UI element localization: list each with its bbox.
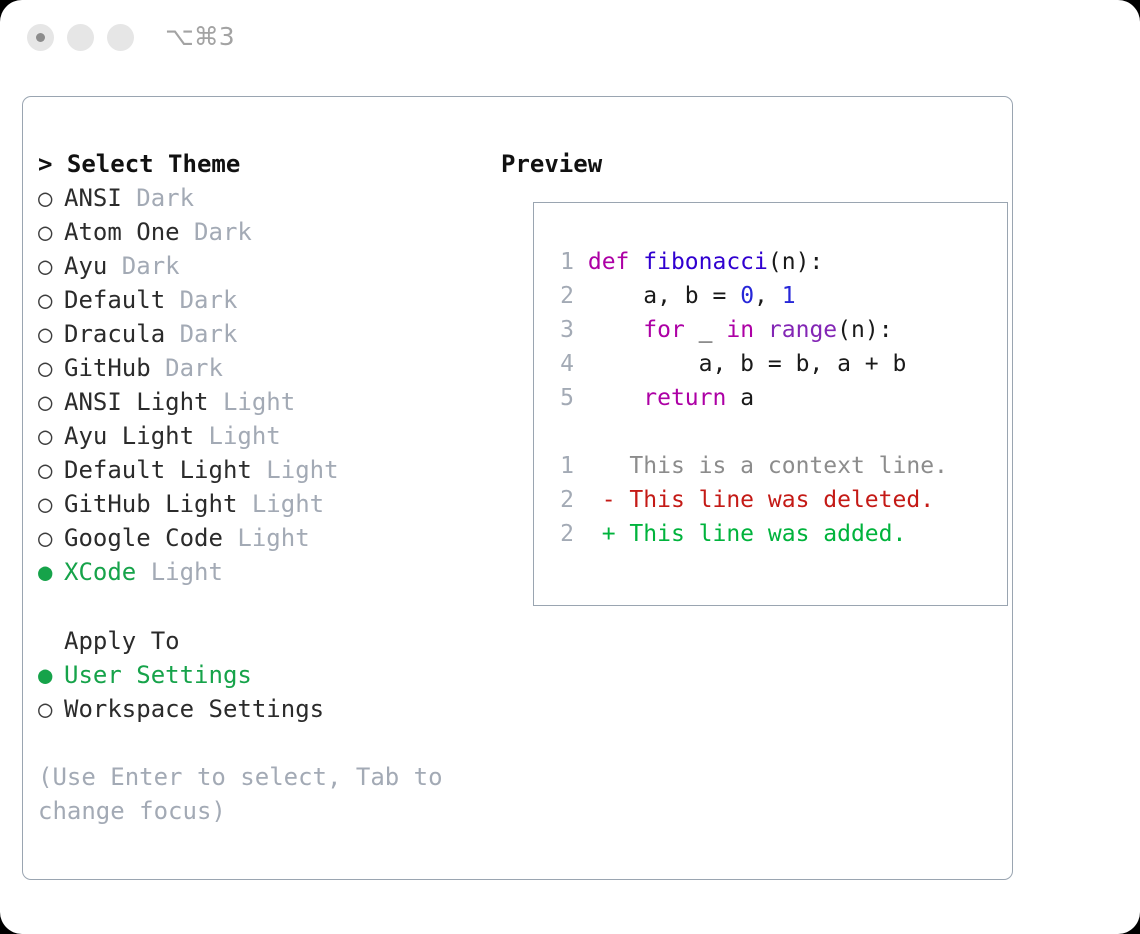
theme-category-badge: Light (136, 558, 223, 586)
code-token: def (588, 249, 643, 275)
theme-category-badge: Dark (107, 252, 179, 280)
diff-sign (602, 453, 630, 479)
diff-line: 2 + This line was added. (548, 517, 948, 551)
code-diff-separator (548, 415, 948, 449)
theme-name: GitHub (64, 354, 151, 382)
apply-to-label: User Settings (64, 661, 252, 689)
theme-name: GitHub Light (64, 490, 237, 518)
radio-unselected-icon: ○ (38, 249, 64, 283)
code-token: a, b = (588, 283, 740, 309)
window-controls (27, 24, 134, 51)
radio-unselected-icon: ○ (38, 419, 64, 453)
code-token: range (768, 317, 837, 343)
code-token: (n): (768, 249, 823, 275)
diff-text: This line was deleted. (629, 487, 934, 513)
theme-list-item[interactable]: ○GitHub Dark (38, 351, 483, 385)
theme-category-badge: Dark (151, 354, 223, 382)
code-token: _ (685, 317, 727, 343)
theme-name: Ayu (64, 252, 107, 280)
theme-list-item[interactable]: ○ANSI Light Light (38, 385, 483, 419)
theme-list-item[interactable]: ○ANSI Dark (38, 181, 483, 215)
radio-unselected-icon: ○ (38, 351, 64, 385)
code-preview: 1 def fibonacci(n):2 a, b = 0, 13 for _ … (548, 245, 948, 551)
theme-name: Default Light (64, 456, 252, 484)
theme-list-item[interactable]: ○Default Dark (38, 283, 483, 317)
theme-category-badge: Dark (122, 184, 194, 212)
theme-category-badge: Dark (180, 218, 252, 246)
code-token: fibonacci (643, 249, 768, 275)
preview-box: 1 def fibonacci(n):2 a, b = 0, 13 for _ … (533, 202, 1008, 606)
window-dot-maximize-icon[interactable] (107, 24, 134, 51)
theme-category-badge: Light (209, 388, 296, 416)
code-line: 3 for _ in range(n): (548, 313, 948, 347)
theme-name: Ayu Light (64, 422, 194, 450)
radio-unselected-icon: ○ (38, 487, 64, 521)
theme-list[interactable]: ○ANSI Dark○Atom One Dark○Ayu Dark○Defaul… (38, 181, 483, 589)
theme-category-badge: Light (194, 422, 281, 450)
theme-list-item[interactable]: ○Ayu Light Light (38, 419, 483, 453)
diff-text: This is a context line. (629, 453, 948, 479)
line-number: 2 (548, 517, 574, 551)
code-token (754, 317, 768, 343)
panel-columns: > Select Theme ○ANSI Dark○Atom One Dark○… (23, 97, 1012, 879)
line-number: 4 (548, 347, 574, 381)
diff-sign: + (602, 521, 630, 547)
apply-to-list[interactable]: ●User Settings○Workspace Settings (38, 658, 483, 726)
line-number: 2 (548, 279, 574, 313)
code-line: 5 return a (548, 381, 948, 415)
diff-line: 2 - This line was deleted. (548, 483, 948, 517)
radio-unselected-icon: ○ (38, 215, 64, 249)
code-token: return (643, 385, 726, 411)
theme-category-badge: Light (237, 490, 324, 518)
theme-list-item[interactable]: ○Ayu Dark (38, 249, 483, 283)
theme-name: XCode (64, 558, 136, 586)
line-number: 5 (548, 381, 574, 415)
radio-unselected-icon: ○ (38, 385, 64, 419)
diff-text: This line was added. (629, 521, 906, 547)
preview-heading: Preview (501, 147, 1001, 181)
theme-category-badge: Dark (165, 320, 237, 348)
theme-name: Dracula (64, 320, 165, 348)
code-token: a (726, 385, 754, 411)
window-dot-close-icon[interactable] (27, 24, 54, 51)
theme-name: ANSI Light (64, 388, 209, 416)
theme-category-badge: Light (252, 456, 339, 484)
line-number: 3 (548, 313, 574, 347)
code-token (588, 317, 643, 343)
title-bar: ⌥⌘3 (0, 0, 1140, 80)
preview-column: Preview 1 def fibonacci(n):2 a, b = 0, 1… (501, 147, 1001, 181)
code-line: 4 a, b = b, a + b (548, 347, 948, 381)
theme-list-item[interactable]: ○Atom One Dark (38, 215, 483, 249)
keyboard-hint-text: (Use Enter to select, Tab to change focu… (38, 760, 448, 828)
code-line: 1 def fibonacci(n): (548, 245, 948, 279)
code-token: for (643, 317, 685, 343)
radio-unselected-icon: ○ (38, 453, 64, 487)
diff-line: 1 This is a context line. (548, 449, 948, 483)
apply-to-heading: Apply To (38, 624, 483, 658)
code-token: , (754, 283, 782, 309)
line-number: 1 (548, 449, 574, 483)
apply-to-section: Apply To ●User Settings○Workspace Settin… (38, 624, 483, 726)
line-number: 2 (548, 483, 574, 517)
apply-to-item[interactable]: ○Workspace Settings (38, 692, 483, 726)
window-dot-minimize-icon[interactable] (67, 24, 94, 51)
theme-list-item[interactable]: ○Dracula Dark (38, 317, 483, 351)
theme-name: Atom One (64, 218, 180, 246)
radio-unselected-icon: ○ (38, 317, 64, 351)
code-token: in (726, 317, 754, 343)
diff-sign: - (602, 487, 630, 513)
theme-picker-column: > Select Theme ○ANSI Dark○Atom One Dark○… (38, 147, 483, 828)
code-token (588, 385, 643, 411)
window-dot-inner (36, 33, 45, 42)
theme-category-badge: Dark (165, 286, 237, 314)
theme-name: ANSI (64, 184, 122, 212)
code-token: 1 (782, 283, 796, 309)
select-theme-heading: > Select Theme (38, 147, 483, 181)
theme-name: Default (64, 286, 165, 314)
line-number: 1 (548, 245, 574, 279)
radio-selected-icon: ● (38, 555, 64, 589)
radio-selected-icon: ● (38, 658, 64, 692)
main-panel: > Select Theme ○ANSI Dark○Atom One Dark○… (22, 96, 1013, 880)
theme-list-item[interactable]: ○GitHub Light Light (38, 487, 483, 521)
theme-category-badge: Light (223, 524, 310, 552)
theme-name: Google Code (64, 524, 223, 552)
theme-list-item[interactable]: ○Google Code Light (38, 521, 483, 555)
code-token: 0 (740, 283, 754, 309)
radio-unselected-icon: ○ (38, 283, 64, 317)
code-token: a, b = b, a + b (588, 351, 907, 377)
radio-unselected-icon: ○ (38, 521, 64, 555)
theme-list-item[interactable]: ○Default Light Light (38, 453, 483, 487)
app-window: ⌥⌘3 > Select Theme ○ANSI Dark○Atom One D… (0, 0, 1140, 934)
code-line: 2 a, b = 0, 1 (548, 279, 948, 313)
theme-list-item[interactable]: ●XCode Light (38, 555, 483, 589)
apply-to-item[interactable]: ●User Settings (38, 658, 483, 692)
radio-unselected-icon: ○ (38, 692, 64, 726)
apply-to-label: Workspace Settings (64, 695, 324, 723)
radio-unselected-icon: ○ (38, 181, 64, 215)
keyboard-shortcut-label: ⌥⌘3 (165, 22, 235, 51)
code-token: (n): (837, 317, 892, 343)
